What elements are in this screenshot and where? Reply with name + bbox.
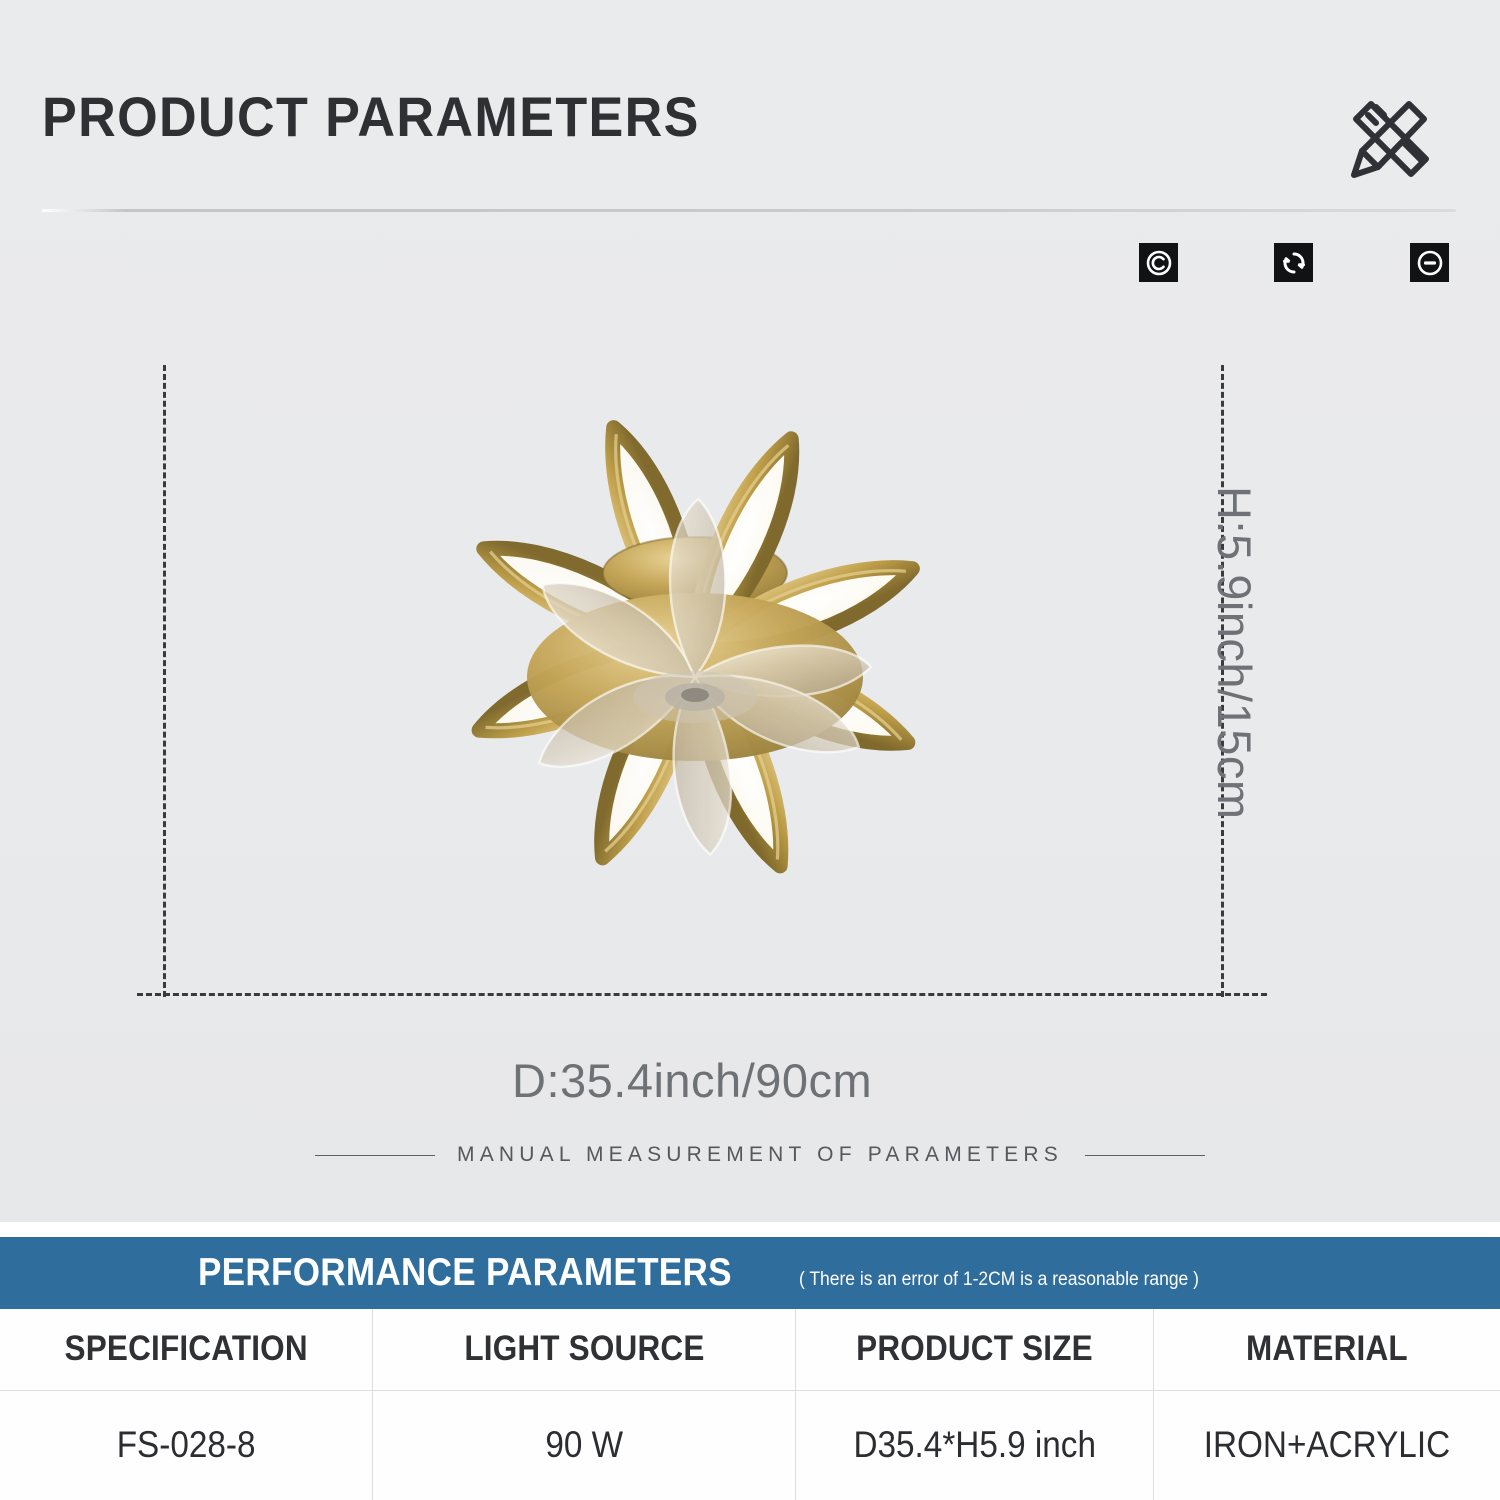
table-cell: 90 W (372, 1391, 795, 1500)
caption-rule-left (315, 1155, 435, 1156)
badge-group (1139, 243, 1449, 283)
dimension-guide-left (163, 365, 166, 997)
header-specification: SPECIFICATION (64, 1329, 307, 1369)
table-header-row: SPECIFICATION LIGHT SOURCE PRODUCT SIZE … (0, 1309, 1500, 1390)
header-light-source: LIGHT SOURCE (464, 1329, 704, 1369)
value-product-size: D35.4*H5.9 inch (853, 1424, 1096, 1466)
hero-panel: PRODUCT PARAMETERS (0, 0, 1500, 1222)
pencil-ruler-icon (1338, 86, 1442, 190)
caption-rule-right (1085, 1155, 1205, 1156)
specification-table: SPECIFICATION LIGHT SOURCE PRODUCT SIZE … (0, 1309, 1500, 1500)
table-cell: FS-028-8 (0, 1391, 372, 1500)
caption-text: MANUAL MEASUREMENT OF PARAMETERS (457, 1143, 1063, 1167)
dimension-guide-bottom (137, 993, 1267, 996)
banner-content: PERFORMANCE PARAMETERS ( There is an err… (198, 1251, 1234, 1295)
title-divider (42, 209, 1456, 212)
sync-arrows-icon (1274, 243, 1313, 282)
value-light-source: 90 W (545, 1424, 623, 1466)
table-header-cell: PRODUCT SIZE (795, 1309, 1153, 1390)
circle-minus-icon (1410, 243, 1449, 282)
table-row: FS-028-8 90 W D35.4*H5.9 inch IRON+ACRYL… (0, 1390, 1500, 1500)
header-product-size: PRODUCT SIZE (856, 1329, 1093, 1369)
table-cell: IRON+ACRYLIC (1153, 1391, 1500, 1500)
performance-banner: PERFORMANCE PARAMETERS ( There is an err… (0, 1237, 1500, 1309)
product-image (150, 305, 1240, 965)
banner-title: PERFORMANCE PARAMETERS (198, 1251, 732, 1295)
table-header-cell: SPECIFICATION (0, 1309, 372, 1390)
header-material: MATERIAL (1246, 1329, 1408, 1369)
product-parameters-page: PRODUCT PARAMETERS (0, 0, 1500, 1500)
value-specification: FS-028-8 (117, 1424, 256, 1466)
banner-note: ( There is an error of 1-2CM is a reason… (799, 1269, 1199, 1291)
diameter-label: D:35.4inch/90cm (512, 1053, 872, 1108)
table-header-cell: LIGHT SOURCE (372, 1309, 795, 1390)
table-cell: D35.4*H5.9 inch (795, 1391, 1153, 1500)
table-header-cell: MATERIAL (1153, 1309, 1500, 1390)
page-title: PRODUCT PARAMETERS (42, 84, 700, 149)
measurement-caption: MANUAL MEASUREMENT OF PARAMETERS (315, 1143, 1185, 1167)
height-label: H:5.9inch/15cm (1207, 486, 1262, 820)
copyright-icon (1139, 243, 1178, 282)
value-material: IRON+ACRYLIC (1204, 1424, 1450, 1466)
